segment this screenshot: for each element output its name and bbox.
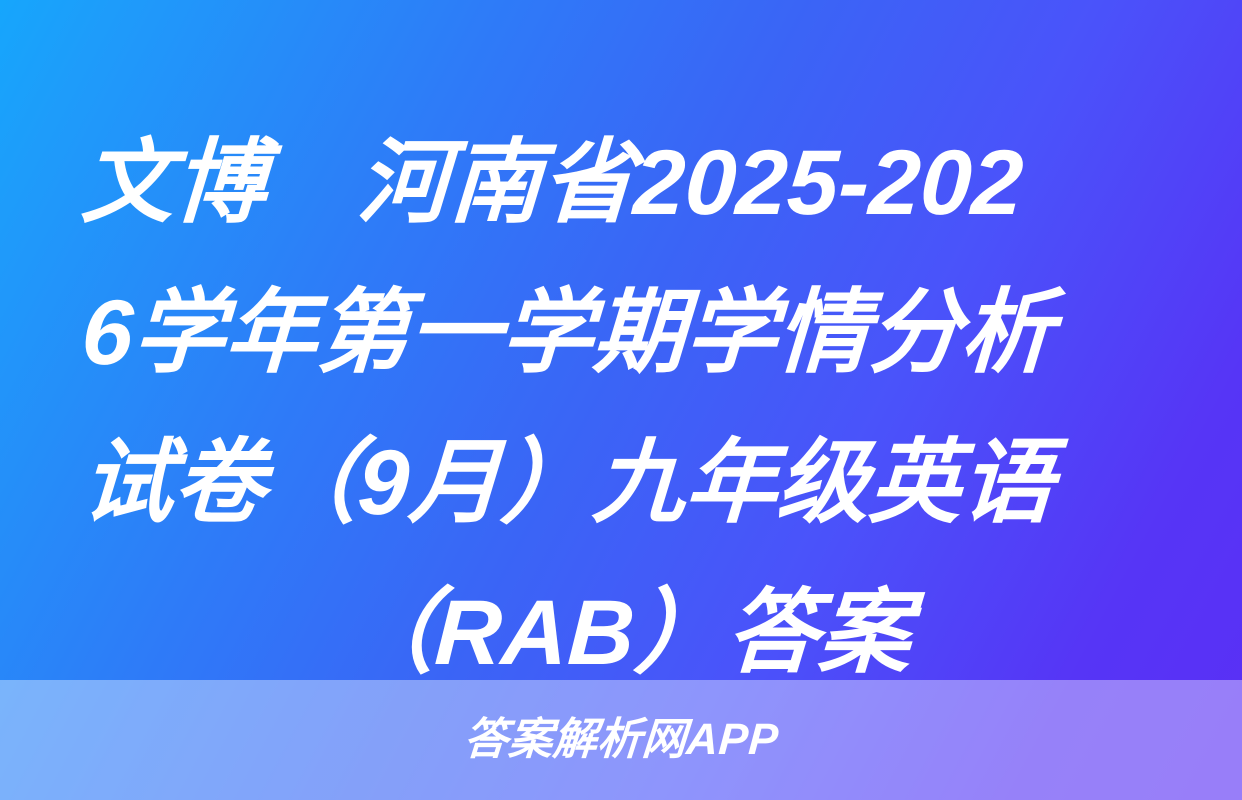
- title-line-3: 试卷（9月）九年级英语: [78, 408, 1176, 558]
- promo-banner-page: 文博 河南省2025-202 6学年第一学期学情分析 试卷（9月）九年级英语 （…: [0, 0, 1242, 800]
- title-line-1: 文博 河南省2025-202: [78, 108, 1176, 258]
- banner-title-block: 文博 河南省2025-202 6学年第一学期学情分析 试卷（9月）九年级英语 （…: [78, 108, 1168, 680]
- app-name-label: 答案解析网APP: [462, 718, 780, 762]
- title-line-2: 6学年第一学期学情分析: [78, 258, 1176, 408]
- footer-band: 答案解析网APP: [0, 680, 1242, 800]
